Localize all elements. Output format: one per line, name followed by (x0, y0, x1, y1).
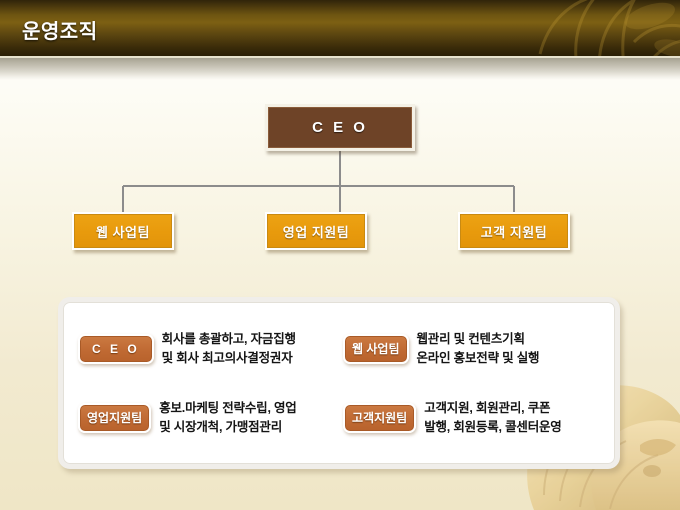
legend-line-1: 홍보.마케팅 전략수립, 영업 (159, 399, 296, 417)
legend-badge-ceo[interactable]: C E O (78, 334, 154, 364)
org-node-ceo[interactable]: C E O (265, 104, 415, 151)
legend-item-web-team[interactable]: 웹 사업팀 웹관리 및 컨텐츠기획 온라인 홍보전략 및 실행 (343, 315, 604, 382)
legend-item-sales-support-team[interactable]: 영업지원팀 홍보.마케팅 전략수립, 영업 및 시장개척, 가맹점관리 (78, 384, 339, 451)
header-ornament-icon (530, 0, 680, 56)
org-node-sales-support-team[interactable]: 영업 지원팀 (265, 212, 367, 250)
legend-item-ceo[interactable]: C E O 회사를 총괄하고, 자금집행 및 회사 최고의사결정권자 (78, 315, 339, 382)
org-node-web-team[interactable]: 웹 사업팀 (72, 212, 174, 250)
legend-item-customer-support-team[interactable]: 고객지원팀 고객지원, 회원관리, 쿠폰 발행, 회원등록, 콜센터운영 (343, 384, 604, 451)
legend-line-2: 및 회사 최고의사결정권자 (162, 349, 296, 367)
legend-description-ceo: 회사를 총괄하고, 자금집행 및 회사 최고의사결정권자 (162, 330, 296, 366)
legend-line-1: 웹관리 및 컨텐츠기획 (417, 330, 540, 348)
page-title: 운영조직 (22, 15, 98, 44)
slide-canvas: 운영조직 (0, 0, 680, 510)
legend-badge-sales-support-team[interactable]: 영업지원팀 (78, 403, 151, 433)
legend-badge-customer-support-team[interactable]: 고객지원팀 (343, 403, 416, 433)
legend-line-2: 온라인 홍보전략 및 실행 (417, 349, 540, 367)
legend-description-customer-support-team: 고객지원, 회원관리, 쿠폰 발행, 회원등록, 콜센터운영 (424, 399, 561, 435)
org-node-customer-support-team[interactable]: 고객 지원팀 (458, 212, 570, 250)
legend-description-web-team: 웹관리 및 컨텐츠기획 온라인 홍보전략 및 실행 (417, 330, 540, 366)
legend-panel: C E O 회사를 총괄하고, 자금집행 및 회사 최고의사결정권자 웹 사업팀… (58, 297, 620, 469)
legend-grid: C E O 회사를 총괄하고, 자금집행 및 회사 최고의사결정권자 웹 사업팀… (63, 302, 615, 464)
legend-description-sales-support-team: 홍보.마케팅 전략수립, 영업 및 시장개척, 가맹점관리 (159, 399, 296, 435)
legend-line-1: 회사를 총괄하고, 자금집행 (162, 330, 296, 348)
legend-line-1: 고객지원, 회원관리, 쿠폰 (424, 399, 561, 417)
header-gradient-band (0, 58, 680, 80)
legend-line-2: 및 시장개척, 가맹점관리 (159, 418, 296, 436)
legend-badge-web-team[interactable]: 웹 사업팀 (343, 334, 409, 364)
legend-line-2: 발행, 회원등록, 콜센터운영 (424, 418, 561, 436)
slide-header: 운영조직 (0, 0, 680, 56)
